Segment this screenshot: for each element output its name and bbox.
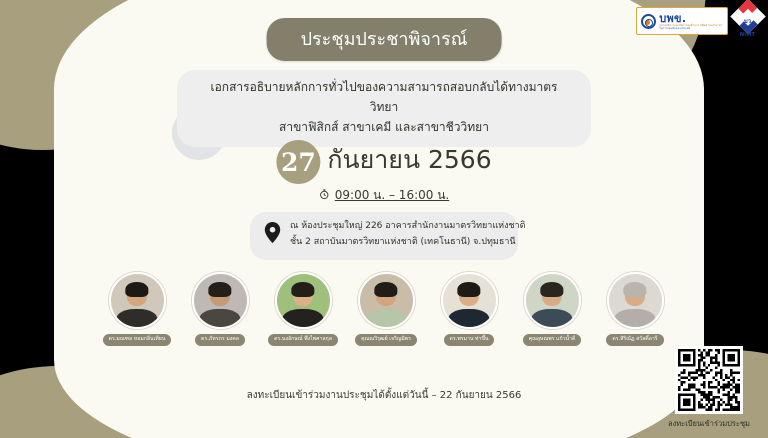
speaker-name: ดร.สิริณัฏ สวัสดิ์อารี (606, 334, 663, 346)
avatar (275, 272, 332, 329)
qr-code-icon[interactable] (675, 346, 743, 414)
pmuc-logo-text: บพข. หน่วยบริหารและจัดการทุนด้านการเพิ่ม… (659, 13, 722, 30)
speaker-name: คุณอุษณพร แก้วน้ำดี (523, 334, 582, 346)
speaker-item: ดร.มณฑล หอมกลิ่นเทียน (102, 272, 172, 346)
pmuc-subtitle-en: ในการแข่งขันของประเทศ (659, 28, 722, 31)
event-poster: บพข. หน่วยบริหารและจัดการทุนด้านการเพิ่ม… (0, 0, 768, 438)
subtitle-line-2: สาขาฟิสิกส์ สาขาเคมี และสาขาชีววิทยา (203, 118, 565, 138)
event-date: 27 กันยายน 2566 (276, 140, 491, 184)
avatar (192, 272, 249, 329)
nimt-mark-text: มว (731, 16, 764, 26)
logo-group: บพข. หน่วยบริหารและจัดการทุนด้านการเพิ่ม… (636, 3, 764, 39)
page-title: ประชุมประชาพิจารณ์ (267, 18, 502, 61)
event-time: 09:00 น. – 16:00 น. (319, 186, 449, 205)
location-line-2: ชั้น 2 สถาบันมาตรวิทยาแห่งชาติ (เทคโนธาน… (290, 235, 526, 251)
speaker-name: ดร.พรมาน ท่าขึ้น (444, 334, 495, 346)
speaker-item: ดร.นงลักษณ์ พึ่งไพศาลกุล (268, 272, 338, 346)
speaker-name: คุณณวิรุฒย์ เจริญมิตร (355, 334, 417, 346)
date-month-year: กันยายน 2566 (327, 140, 491, 184)
avatar (358, 272, 415, 329)
subtitle-line-1: เอกสารอธิบายหลักการทั่วไปของความสามารถสอ… (203, 78, 565, 118)
avatar (441, 272, 498, 329)
avatar (524, 272, 581, 329)
time-text: 09:00 น. – 16:00 น. (335, 186, 449, 205)
pmuc-logo: บพข. หน่วยบริหารและจัดการทุนด้านการเพิ่ม… (636, 7, 728, 35)
registration-qr-block[interactable]: ลงทะเบียนเข้าร่วมประชุม (668, 346, 750, 430)
location-text: ณ ห้องประชุมใหญ่ 226 อาคารสำนักงานมาตรวิ… (290, 219, 526, 251)
speaker-name: ดร.มณฑล หอมกลิ่นเทียน (103, 334, 172, 346)
speaker-item: ดร.ภัทรภร มงคล (185, 272, 255, 346)
speaker-name: ดร.ภัทรภร มงคล (195, 334, 245, 346)
date-day-badge: 27 (276, 140, 320, 184)
poster-content: บพข. หน่วยบริหารและจัดการทุนด้านการเพิ่ม… (0, 0, 768, 438)
nimt-logo: มว NIMT (731, 3, 764, 39)
speaker-list: ดร.มณฑล หอมกลิ่นเทียนดร.ภัทรภร มงคลดร.นง… (0, 272, 768, 346)
nimt-label-text: NIMT (731, 32, 764, 38)
avatar (109, 272, 166, 329)
speaker-item: คุณณวิรุฒย์ เจริญมิตร (351, 272, 421, 346)
speaker-item: คุณอุษณพร แก้วน้ำดี (517, 272, 587, 346)
speaker-name: ดร.นงลักษณ์ พึ่งไพศาลกุล (268, 334, 338, 346)
location-pin-icon (264, 222, 281, 247)
speaker-item: ดร.พรมาน ท่าขึ้น (434, 272, 504, 346)
pmuc-mark-icon (641, 14, 656, 29)
pmuc-abbr: บพข. (659, 13, 722, 24)
avatar (607, 272, 664, 329)
speaker-item: ดร.สิริณัฏ สวัสดิ์อารี (600, 272, 670, 346)
poster-subtitle: เอกสารอธิบายหลักการทั่วไปของความสามารถสอ… (177, 70, 591, 147)
qr-caption: ลงทะเบียนเข้าร่วมประชุม (668, 418, 750, 430)
location-line-1: ณ ห้องประชุมใหญ่ 226 อาคารสำนักงานมาตรวิ… (290, 219, 526, 235)
event-location: ณ ห้องประชุมใหญ่ 226 อาคารสำนักงานมาตรวิ… (250, 212, 518, 260)
clock-icon (319, 189, 330, 203)
registration-note: ลงทะเบียนเข้าร่วมงานประชุมได้ตั้งแต่วันน… (0, 388, 768, 403)
